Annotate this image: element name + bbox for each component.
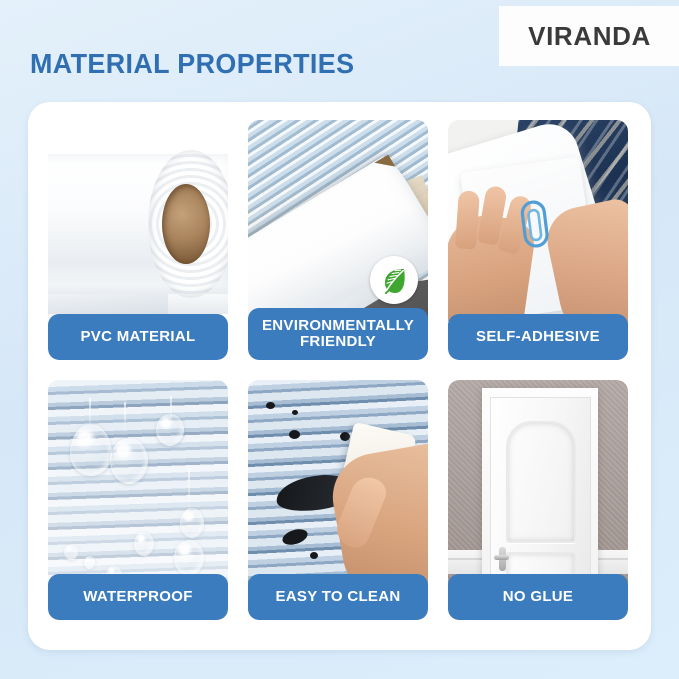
label-line-1: ENVIRONMENTALLY xyxy=(262,317,414,334)
label-line-2: FRIENDLY xyxy=(300,333,376,350)
leaf-icon xyxy=(370,256,418,304)
feature-cell-self-adhesive[interactable]: SELF-ADHESIVE xyxy=(448,120,628,360)
brand-logo-box: VIRANDA xyxy=(500,7,679,65)
door xyxy=(490,397,591,600)
paperclip-icon xyxy=(515,196,556,257)
roll-core xyxy=(162,184,210,264)
brand-name: VIRANDA xyxy=(528,21,651,52)
door-frame xyxy=(482,388,598,600)
feature-cell-no-glue[interactable]: NO GLUE xyxy=(448,380,628,620)
feature-label-pvc-material: PVC MATERIAL xyxy=(48,314,228,360)
feature-label-environmentally-friendly: ENVIRONMENTALLY FRIENDLY xyxy=(248,308,428,360)
feature-label-self-adhesive: SELF-ADHESIVE xyxy=(448,314,628,360)
feature-cell-pvc-material[interactable]: PVC MATERIAL xyxy=(48,120,228,360)
feature-label-easy-to-clean: EASY TO CLEAN xyxy=(248,574,428,620)
feature-label-no-glue: NO GLUE xyxy=(448,574,628,620)
page-title: MATERIAL PROPERTIES xyxy=(30,48,354,80)
feature-cell-waterproof[interactable]: WATERPROOF xyxy=(48,380,228,620)
feature-cell-easy-to-clean[interactable]: EASY TO CLEAN xyxy=(248,380,428,620)
feature-grid: PVC MATERIAL xyxy=(48,120,633,620)
feature-cell-environmentally-friendly[interactable]: ENVIRONMENTALLY FRIENDLY xyxy=(248,120,428,360)
feature-label-waterproof: WATERPROOF xyxy=(48,574,228,620)
infographic-page: VIRANDA MATERIAL PROPERTIES PVC MATERIAL xyxy=(0,0,679,679)
